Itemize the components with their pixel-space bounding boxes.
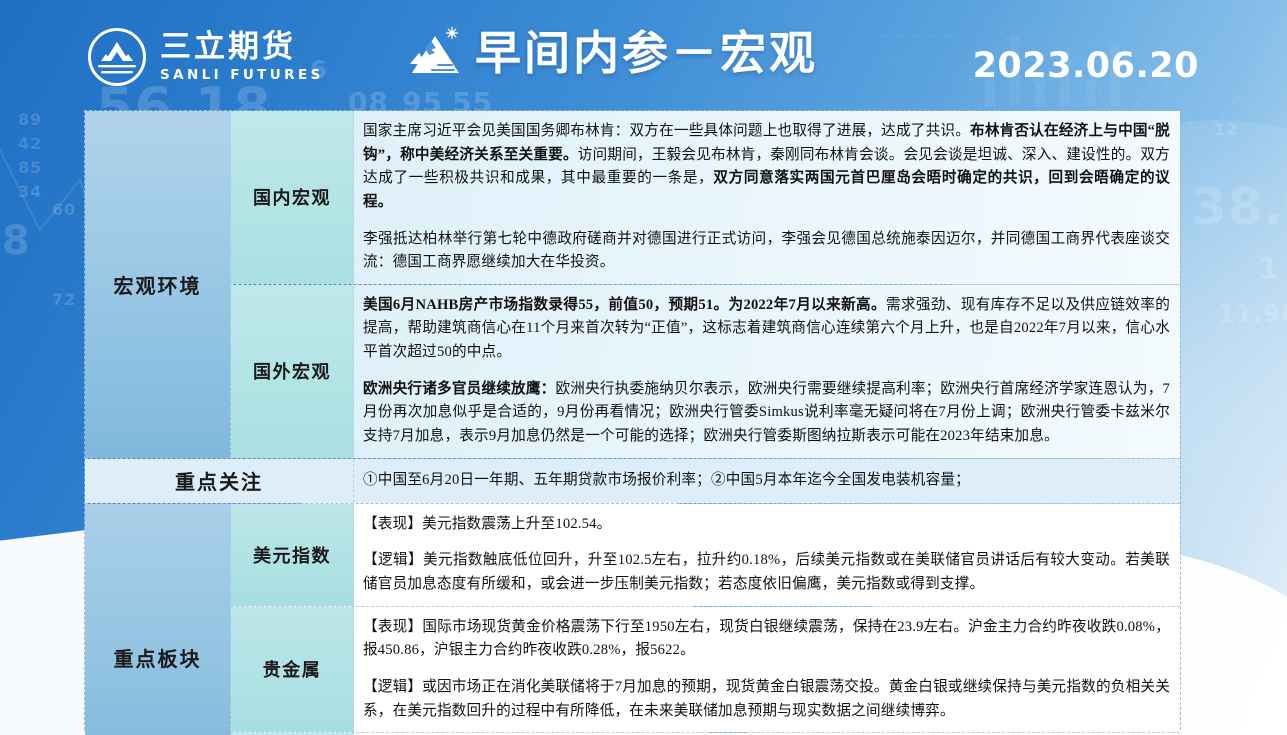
report-title-block: 早间内参－宏观	[405, 26, 818, 80]
bg-number: 42	[18, 134, 42, 153]
sub-label-precious-metals: 贵金属	[231, 607, 354, 733]
bg-number: 85	[18, 158, 42, 177]
bg-number: 72	[52, 290, 76, 309]
sub-label-text: 国外宏观	[253, 358, 331, 384]
row-precious-metals: 贵金属 【表现】国际市场现货黄金价格震荡下行至1950左右，现货白银继续震荡，保…	[231, 607, 1180, 734]
section-key-focus: 重点关注 ①中国至6月20日一年期、五年期贷款市场报价利率；②中国5月本年迄今全…	[85, 459, 1180, 504]
bg-number: 34	[18, 182, 42, 201]
sub-label-text: 美元指数	[253, 542, 331, 568]
section-label-macro-environment: 宏观环境	[85, 111, 231, 458]
section-label-key-sectors: 重点板块	[85, 504, 231, 735]
sub-label-domestic-macro: 国内宏观	[231, 111, 354, 284]
row-domestic-macro: 国内宏观 国家主席习近平会见美国国务卿布林肯：双方在一些具体问题上也取得了进展，…	[231, 111, 1180, 285]
text-segment: 【表现】美元指数震荡上升至102.54。	[363, 516, 611, 532]
bg-number: 89	[18, 110, 42, 129]
report-date: 2023.06.20	[973, 46, 1199, 86]
sub-label-text: 国内宏观	[253, 184, 331, 210]
content-dollar-index: 【表现】美元指数震荡上升至102.54。 【逻辑】美元指数触底低位回升，升至10…	[354, 504, 1180, 606]
text-segment: 【逻辑】或因市场正在消化美联储将于7月加息的预期，现货黄金白银震荡交投。黄金白银…	[363, 679, 1170, 719]
text-segment: 美国6月NAHB房产市场指数录得55，前值50，预期51。为2022年7月以来新…	[363, 297, 886, 313]
section-label-key-focus: 重点关注	[85, 459, 354, 503]
paragraph: 美国6月NAHB房产市场指数录得55，前值50，预期51。为2022年7月以来新…	[363, 294, 1170, 365]
section-macro-environment: 宏观环境 国内宏观 国家主席习近平会见美国国务卿布林肯：双方在一些具体问题上也取…	[85, 111, 1180, 459]
logo-mountain-glyph	[96, 40, 138, 80]
section-key-sectors: 重点板块 美元指数 【表现】美元指数震荡上升至102.54。 【逻辑】美元指数触…	[85, 504, 1180, 735]
paragraph: 李强抵达柏林举行第七轮中德政府磋商并对德国进行正式访问，李强会见德国总统施泰因迈…	[363, 228, 1170, 275]
label-text: 宏观环境	[114, 270, 202, 299]
label-text: 重点板块	[114, 643, 202, 672]
bg-number: 60	[52, 200, 76, 219]
paragraph: 【表现】国际市场现货黄金价格震荡下行至1950左右，现货白银继续震荡，保持在23…	[363, 616, 1170, 663]
text-segment: 【表现】国际市场现货黄金价格震荡下行至1950左右，现货白银继续震荡，保持在23…	[363, 619, 1170, 659]
paragraph: 【表现】美元指数震荡上升至102.54。	[363, 513, 1170, 537]
text-segment: 【逻辑】美元指数触底低位回升，升至102.5左右，拉升约0.18%，后续美元指数…	[363, 552, 1170, 592]
paragraph: ①中国至6月20日一年期、五年期贷款市场报价利率；②中国5月本年迄今全国发电装机…	[363, 469, 1170, 493]
text-segment: 欧洲央行诸多官员继续放鹰：	[363, 381, 555, 397]
page-title: 早间内参－宏观	[475, 30, 818, 76]
text-segment: 李强抵达柏林举行第七轮中德政府磋商并对德国进行正式访问，李强会见德国总统施泰因迈…	[363, 231, 1170, 271]
mountain-circle-logo-icon	[88, 28, 146, 86]
row-dollar-index: 美元指数 【表现】美元指数震荡上升至102.54。 【逻辑】美元指数触底低位回升…	[231, 504, 1180, 607]
text-segment: ①中国至6月20日一年期、五年期贷款市场报价利率；②中国5月本年迄今全国发电装机…	[363, 472, 970, 488]
paragraph: 【逻辑】或因市场正在消化美联储将于7月加息的预期，现货黄金白银震荡交投。黄金白银…	[363, 676, 1170, 723]
row-foreign-macro: 国外宏观 美国6月NAHB房产市场指数录得55，前值50，预期51。为2022年…	[231, 285, 1180, 458]
content-foreign-macro: 美国6月NAHB房产市场指数录得55，前值50，预期51。为2022年7月以来新…	[354, 285, 1180, 458]
page-header: 三立期货 SANLI FUTURES 早间内参－宏观 2023.06.20	[0, 0, 1287, 108]
sub-label-foreign-macro: 国外宏观	[231, 285, 354, 458]
content-key-focus: ①中国至6月20日一年期、五年期贷款市场报价利率；②中国5月本年迄今全国发电装机…	[354, 459, 1180, 503]
bg-number: 8	[2, 218, 31, 264]
brand-logo: 三立期货 SANLI FUTURES	[88, 28, 324, 86]
paragraph: 国家主席习近平会见美国国务卿布林肯：双方在一些具体问题上也取得了进展，达成了共识…	[363, 120, 1170, 215]
mountain-snow-icon	[405, 26, 463, 80]
paragraph: 【逻辑】美元指数触底低位回升，升至102.5左右，拉升约0.18%，后续美元指数…	[363, 549, 1170, 596]
content-precious-metals: 【表现】国际市场现货黄金价格震荡下行至1950左右，现货白银继续震荡，保持在23…	[354, 607, 1180, 733]
sub-label-text: 贵金属	[263, 656, 322, 682]
report-table: 宏观环境 国内宏观 国家主席习近平会见美国国务卿布林肯：双方在一些具体问题上也取…	[84, 110, 1181, 730]
brand-name-cn: 三立期货	[160, 32, 324, 63]
content-domestic-macro: 国家主席习近平会见美国国务卿布林肯：双方在一些具体问题上也取得了进展，达成了共识…	[354, 111, 1180, 284]
sub-label-dollar-index: 美元指数	[231, 504, 354, 606]
label-text: 重点关注	[175, 466, 263, 495]
text-segment: 国家主席习近平会见美国国务卿布林肯：双方在一些具体问题上也取得了进展，达成了共识…	[363, 123, 970, 139]
paragraph: 欧洲央行诸多官员继续放鹰：欧洲央行执委施纳贝尔表示，欧洲央行需要继续提高利率；欧…	[363, 378, 1170, 449]
brand-name-en: SANLI FUTURES	[160, 69, 324, 83]
